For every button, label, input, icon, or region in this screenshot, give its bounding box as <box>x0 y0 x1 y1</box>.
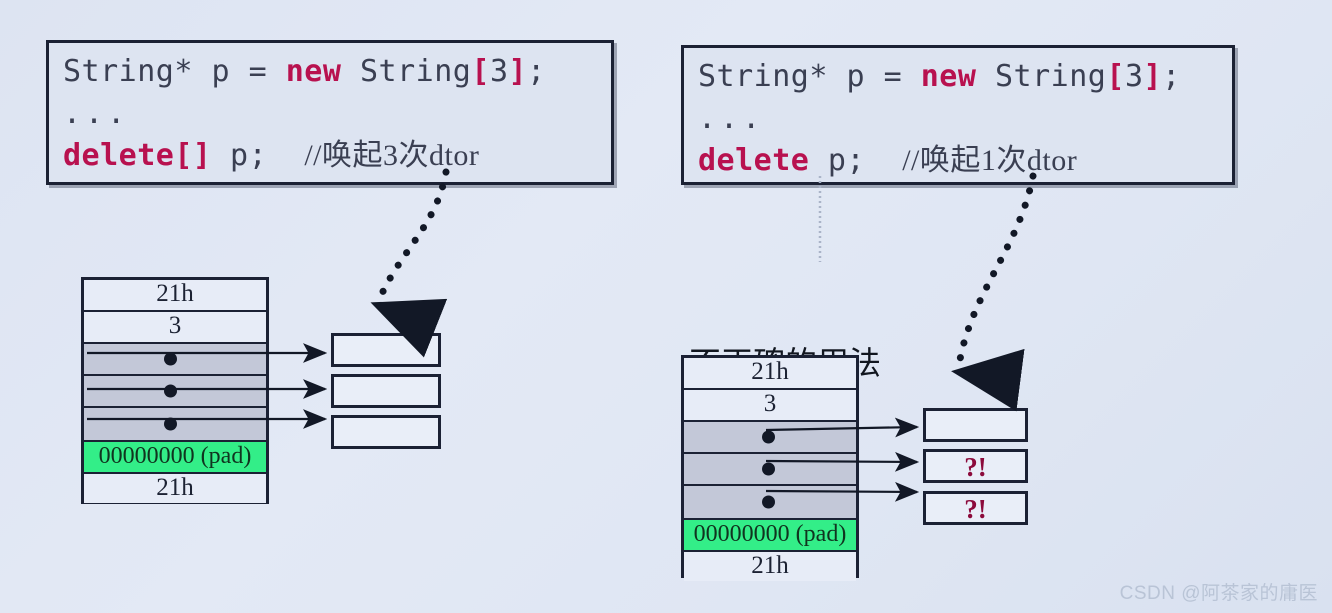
right-mem-row-header-21h: 21h <box>684 358 856 390</box>
left-code-line3-part2: p; <box>212 138 305 173</box>
pointer-dot-icon <box>762 463 775 476</box>
left-mem-row-footer-21h: 21h <box>84 474 266 503</box>
slide-canvas: String* p = new String[3]; ... delete[] … <box>0 0 1332 613</box>
left-target-box-3 <box>331 415 441 449</box>
left-code-line1-part2: String <box>341 54 471 89</box>
pointer-dot-icon <box>762 496 775 509</box>
left-mem-row-pointer-1 <box>84 344 266 376</box>
pointer-dot-icon <box>164 385 177 398</box>
right-target-box-1 <box>923 408 1028 442</box>
right-code-line1-part1: String* p = <box>698 59 921 94</box>
right-target-box-2: ?! <box>923 449 1028 483</box>
left-mem-row-count: 3 <box>84 312 266 344</box>
right-target-box-3: ?! <box>923 491 1028 525</box>
left-memory-block: 21h 3 00000000 (pad) 21h <box>81 277 269 504</box>
right-code-line3-part2: p; <box>809 143 902 178</box>
right-code-line1-index: 3 <box>1125 59 1144 94</box>
left-code-line1-terminator: ; <box>527 54 546 89</box>
left-code-line3-keyword: delete <box>63 138 174 173</box>
right-code-line-2: ... <box>698 98 1218 140</box>
right-code-line1-bracket-open: [ <box>1106 59 1125 94</box>
right-code-line-1: String* p = new String[3]; <box>698 56 1218 98</box>
left-mem-row-header-21h: 21h <box>84 280 266 312</box>
left-code-line-1: String* p = new String[3]; <box>63 51 597 93</box>
left-mem-row-pointer-3 <box>84 408 266 442</box>
right-code-line3-keyword: delete <box>698 143 809 178</box>
left-code-line1-part1: String* p = <box>63 54 286 89</box>
right-mem-row-pad: 00000000 (pad) <box>684 520 856 552</box>
right-mem-row-pointer-1 <box>684 422 856 454</box>
right-code-line1-part2: String <box>976 59 1106 94</box>
pointer-dot-icon <box>762 431 775 444</box>
left-target-box-1 <box>331 333 441 367</box>
right-code-line3-comment: //唤起1次dtor <box>902 144 1077 177</box>
left-code-line3-comment: //唤起3次dtor <box>304 139 479 172</box>
left-code-line1-index: 3 <box>490 54 509 89</box>
right-code-line1-terminator: ; <box>1162 59 1181 94</box>
left-code-line1-keyword: new <box>286 54 342 89</box>
pointer-dot-icon <box>164 353 177 366</box>
right-callout-dotted-arrow <box>958 176 1033 372</box>
right-mem-row-footer-21h: 21h <box>684 552 856 581</box>
left-code-box: String* p = new String[3]; ... delete[] … <box>46 40 614 185</box>
left-callout-dotted-arrow <box>377 172 446 305</box>
right-mem-row-pointer-2 <box>684 454 856 486</box>
right-code-box: String* p = new String[3]; ... delete p;… <box>681 45 1235 185</box>
right-code-line1-bracket-close: ] <box>1144 59 1163 94</box>
right-mem-row-pointer-3 <box>684 486 856 520</box>
left-code-line-3: delete[] p; //唤起3次dtor <box>63 135 597 177</box>
left-code-line3-brackets: [] <box>174 138 211 173</box>
left-code-line-2: ... <box>63 93 597 135</box>
csdn-watermark: CSDN @阿茶家的庸医 <box>1120 578 1318 605</box>
left-mem-row-pointer-2 <box>84 376 266 408</box>
right-mem-row-count: 3 <box>684 390 856 422</box>
right-code-line-3: delete p; //唤起1次dtor <box>698 140 1218 182</box>
left-code-line1-bracket-close: ] <box>509 54 528 89</box>
left-code-line1-bracket-open: [ <box>471 54 490 89</box>
right-memory-block: 21h 3 00000000 (pad) 21h <box>681 355 859 578</box>
pointer-dot-icon <box>164 418 177 431</box>
left-target-box-2 <box>331 374 441 408</box>
left-mem-row-pad: 00000000 (pad) <box>84 442 266 474</box>
right-code-line1-keyword: new <box>921 59 977 94</box>
